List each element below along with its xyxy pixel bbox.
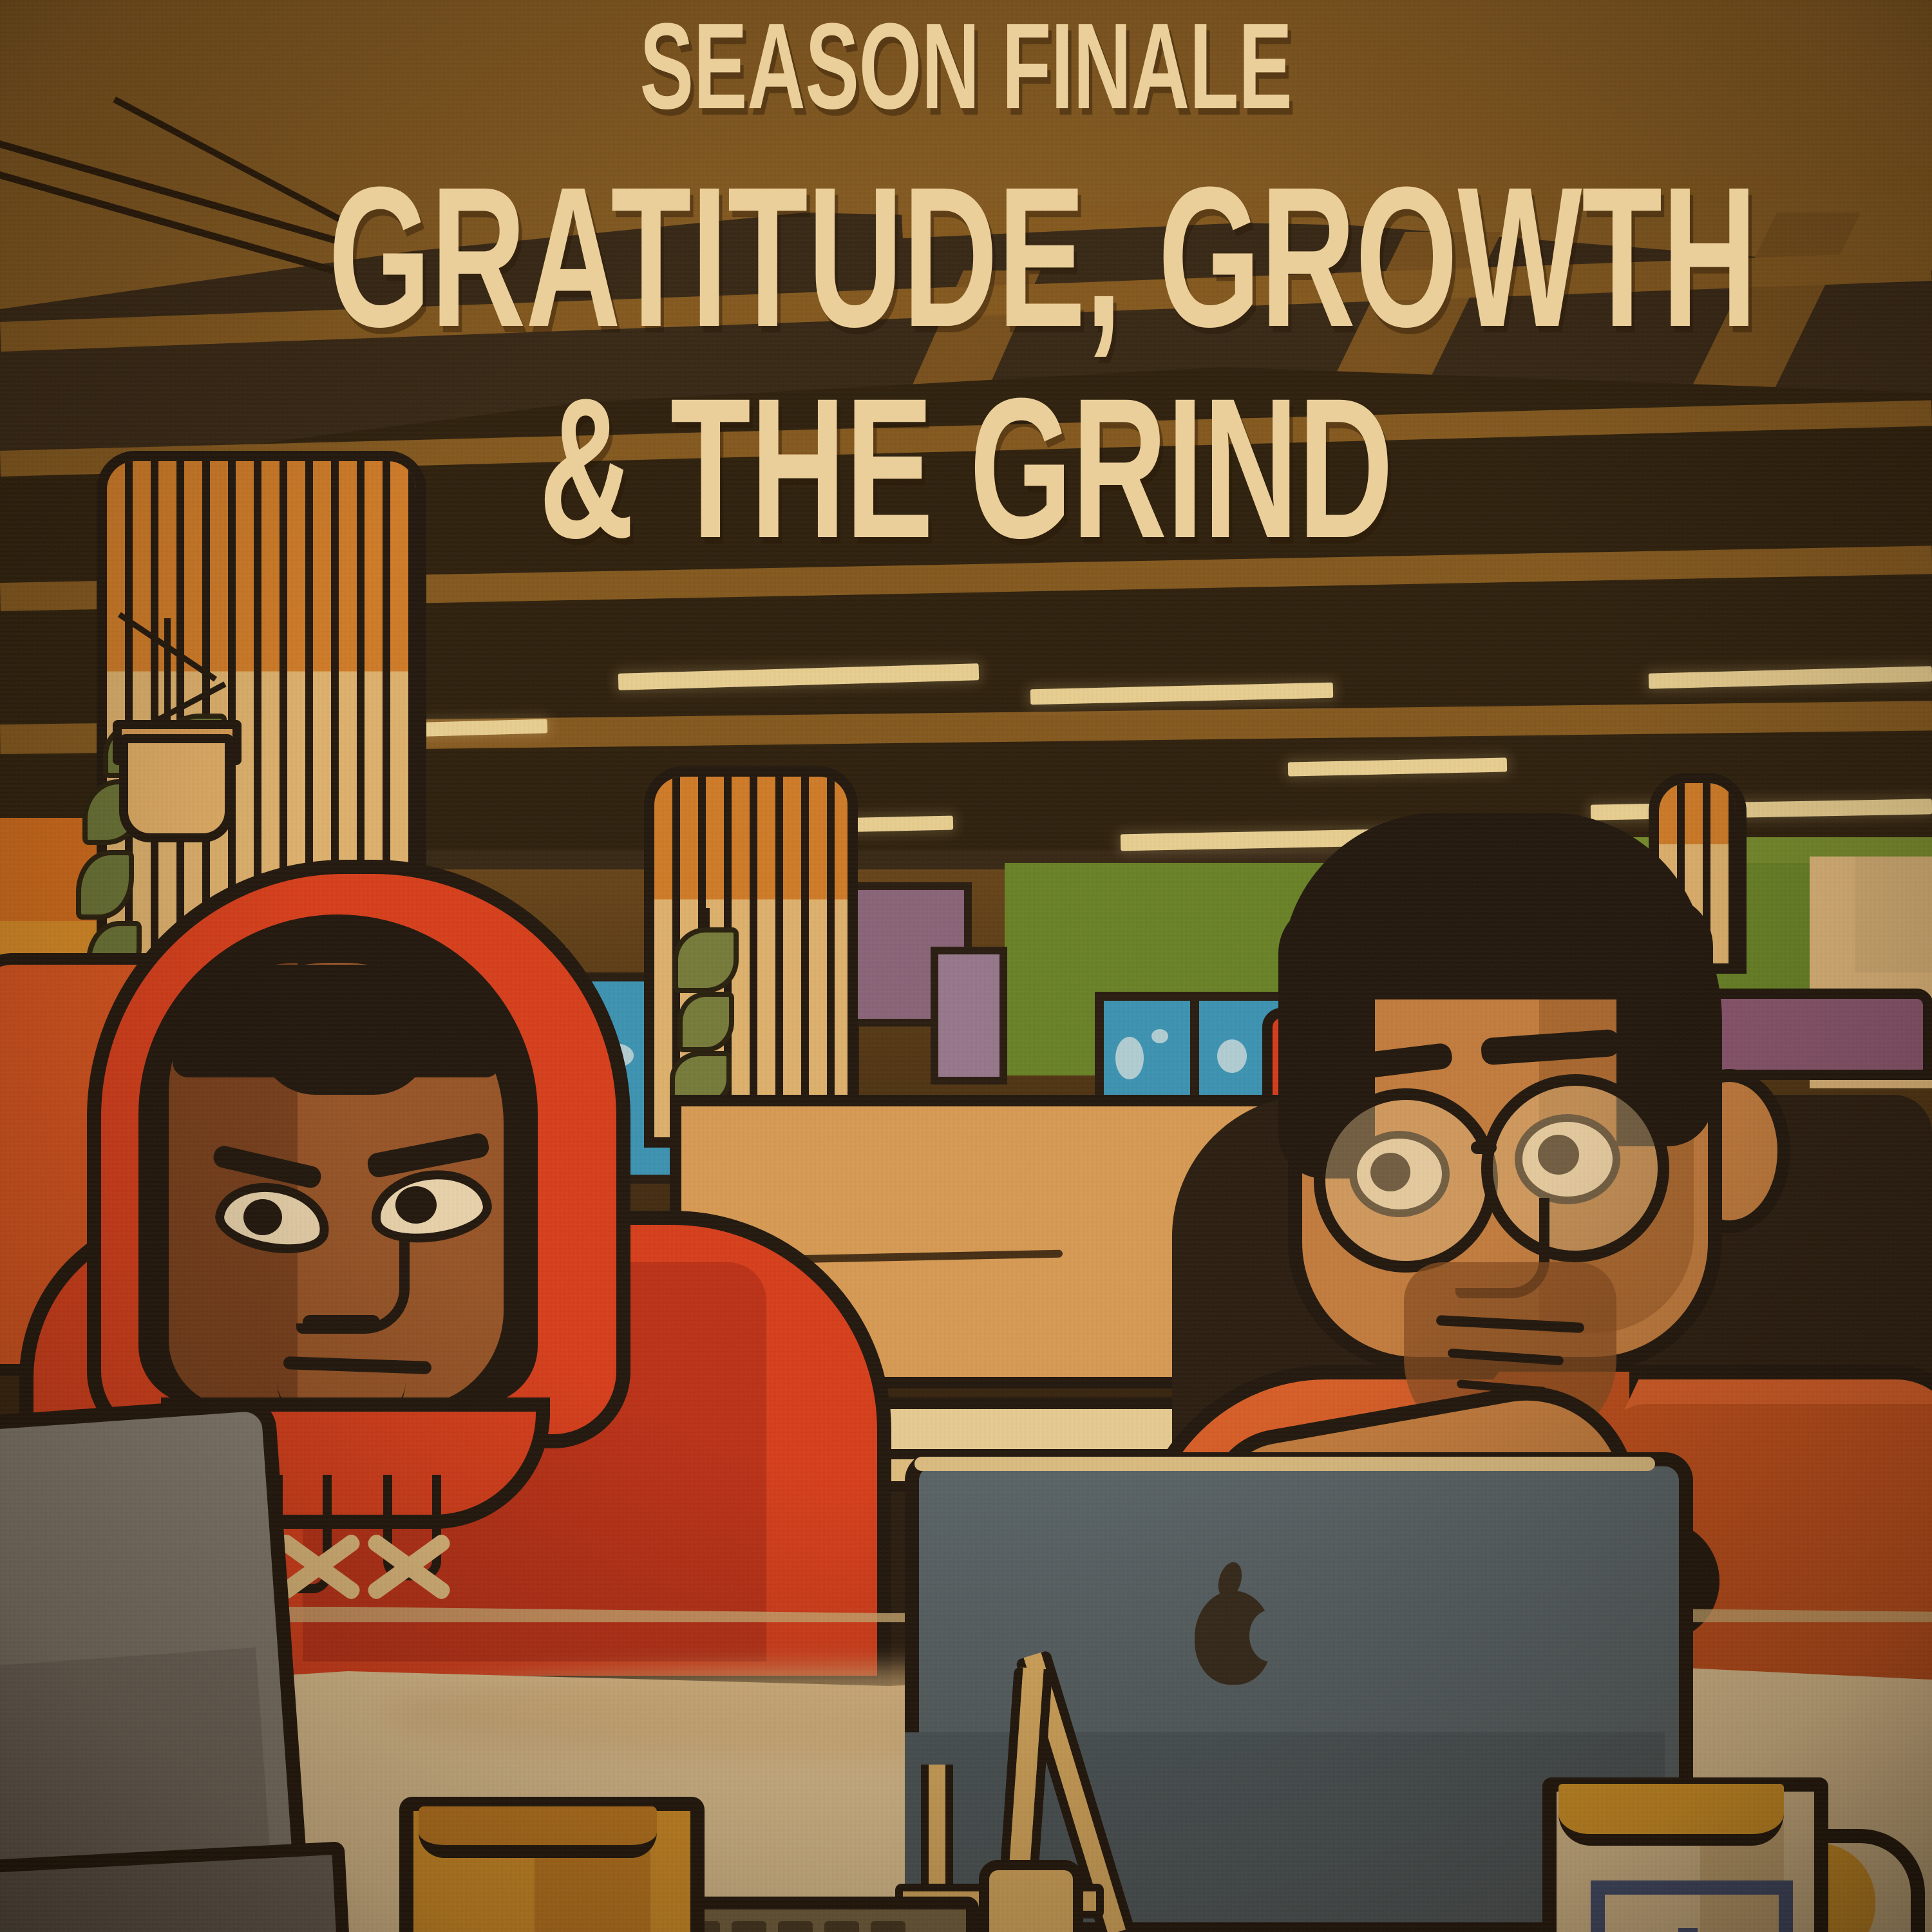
episode-title-line-1: GRATITUDE, GROWTH (328, 128, 1604, 357)
laptop-right-top-edge (914, 1457, 1655, 1471)
apple-logo-bite (1249, 1610, 1291, 1662)
mug-logo-badge (1591, 1880, 1793, 1932)
podcast-cover-art: SEASON FINALE GRATITUDE, GROWTH & THE GR… (0, 0, 1932, 1932)
office-wall-tan (1855, 857, 1932, 972)
eyeglasses-bridge (1471, 1141, 1497, 1154)
episode-title-line-2: & THE GRIND (328, 357, 1604, 568)
person-left-pupil (243, 1199, 282, 1235)
title-block: SEASON FINALE GRATITUDE, GROWTH & THE GR… (0, 0, 1932, 568)
season-finale-kicker: SEASON FINALE (328, 0, 1604, 128)
microphone-boom-arm (921, 1765, 953, 1900)
coffee-cup-rim (419, 1806, 657, 1858)
plant-leaf (673, 927, 739, 993)
background-panel (931, 947, 1007, 1084)
plant-leaf (677, 992, 734, 1052)
plant-pot (119, 734, 234, 842)
person-left-nostril (303, 1315, 380, 1329)
person-left-pupil (395, 1186, 437, 1224)
office-chair (1700, 989, 1932, 1080)
microphone-pivot (979, 1860, 1083, 1932)
coffee-mug-rim (1558, 1784, 1784, 1846)
